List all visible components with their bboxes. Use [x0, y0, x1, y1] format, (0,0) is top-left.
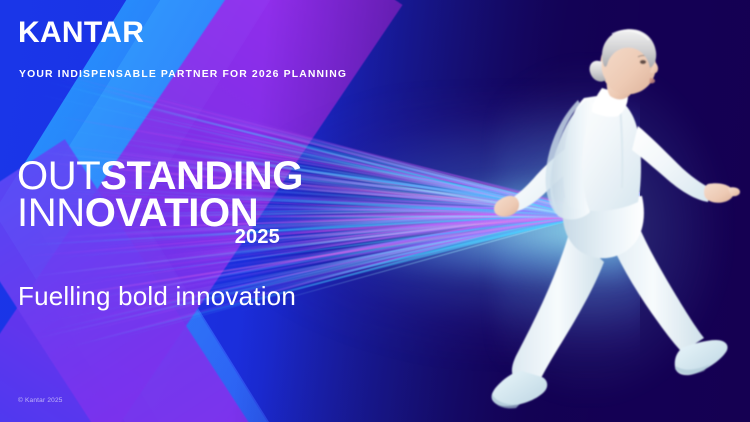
- page-title: OUTSTANDING INNOVATION: [17, 158, 303, 232]
- tagline-text: YOUR INDISPENSABLE PARTNER FOR 2026 PLAN…: [19, 69, 347, 80]
- kantar-logo: KANTAR: [18, 18, 144, 48]
- subheadline-text: Fuelling bold innovation: [18, 281, 296, 312]
- copyright-notice: © Kantar 2025: [18, 397, 63, 404]
- slide-content: KANTAR YOUR INDISPENSABLE PARTNER FOR 20…: [0, 0, 750, 422]
- headline-line-1: OUTSTANDING: [17, 158, 303, 195]
- event-year: 2025: [17, 226, 280, 249]
- kantar-promo-slide: KANTAR YOUR INDISPENSABLE PARTNER FOR 20…: [0, 0, 750, 422]
